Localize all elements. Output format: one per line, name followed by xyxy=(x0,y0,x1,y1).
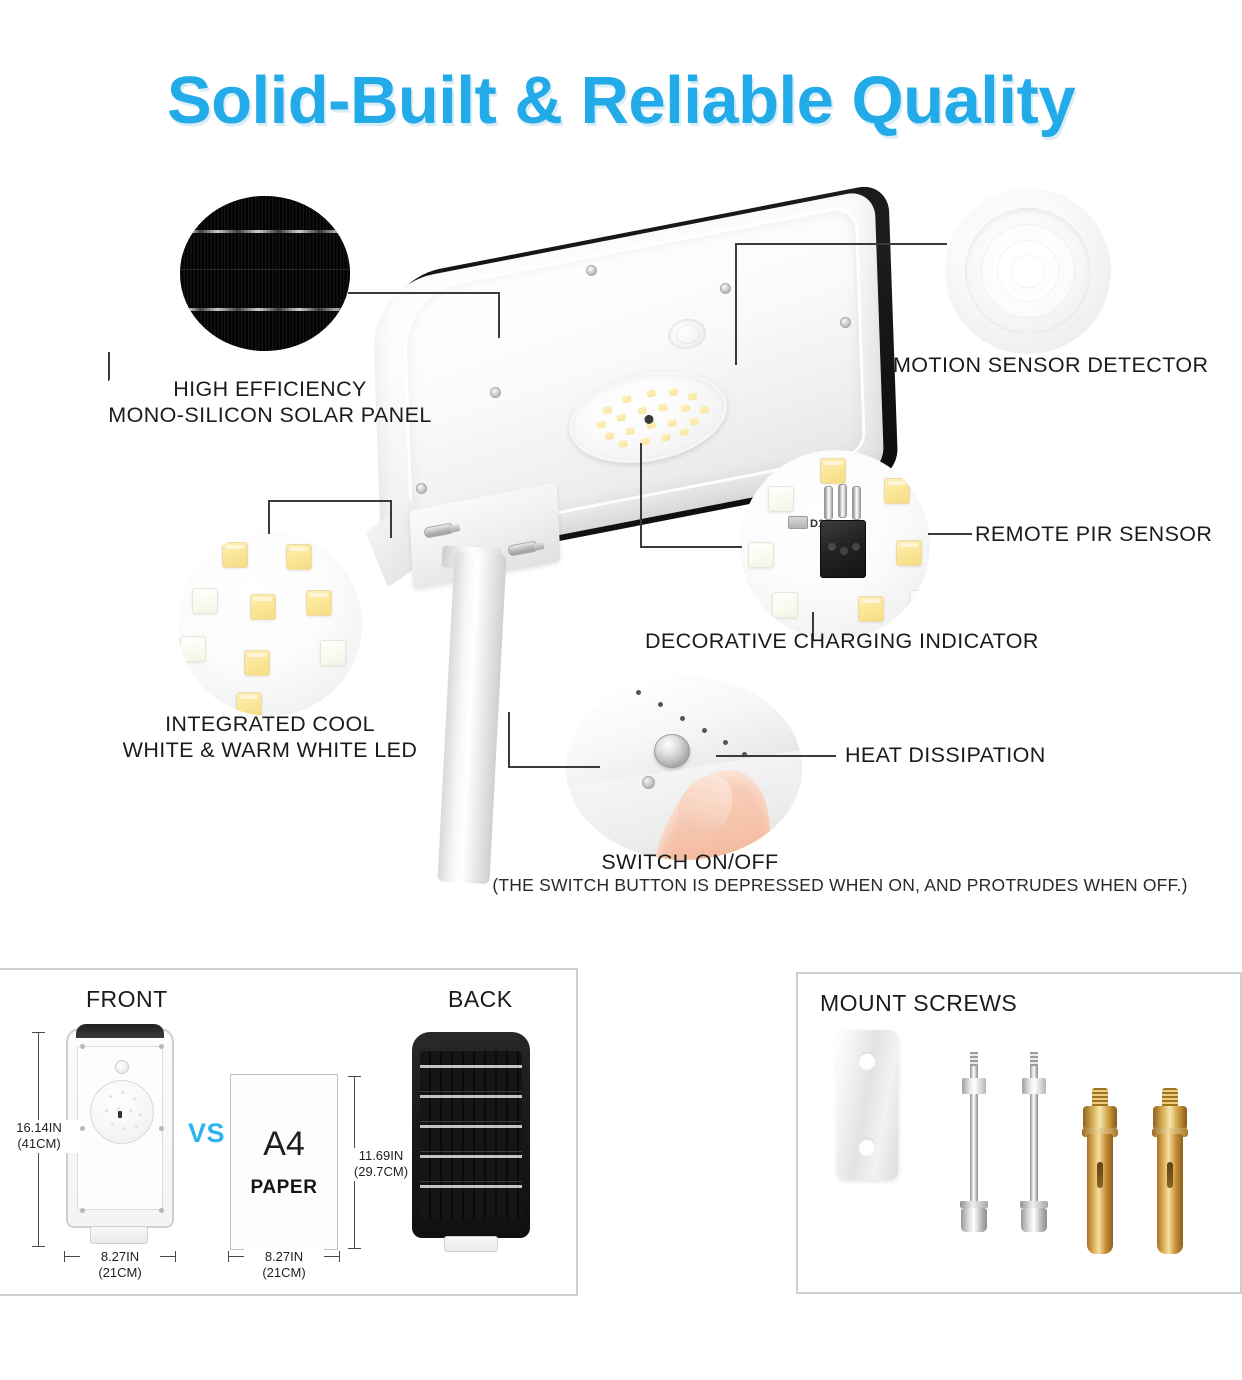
product-back-view xyxy=(412,1032,530,1238)
callout-label-heat-dissipation: HEAT DISSIPATION xyxy=(845,742,1046,768)
a4-paper-reference: A4 PAPER xyxy=(230,1074,338,1250)
callout-note-switch: (THE SWITCH BUTTON IS DEPRESSED WHEN ON,… xyxy=(440,875,1240,896)
vent-holes-icon xyxy=(658,702,663,707)
screw-icon xyxy=(642,776,655,789)
housing-screw-icon xyxy=(490,387,501,398)
front-led-lens xyxy=(90,1080,154,1144)
solar-panel-swatch-icon xyxy=(180,196,350,351)
leader-line xyxy=(735,243,947,245)
pir-board-icon: D1 xyxy=(740,450,930,640)
housing-screw-icon xyxy=(586,265,597,276)
bolt-part xyxy=(1020,1052,1048,1232)
mount-screws-title: MOUNT SCREWS xyxy=(820,990,1017,1017)
leader-line xyxy=(268,500,392,502)
power-button-icon xyxy=(654,734,690,768)
dimension-product-height: 16.14IN (41CM) xyxy=(0,1120,80,1153)
a4-title: A4 xyxy=(231,1125,337,1164)
front-motion-sensor-icon xyxy=(115,1060,129,1074)
leader-line xyxy=(640,443,642,547)
pir-dome-icon xyxy=(945,188,1111,354)
push-button-icon xyxy=(566,676,802,860)
callout-label-line2: MONO-SILICON SOLAR PANEL xyxy=(60,403,480,429)
product-back-mount-foot xyxy=(444,1236,498,1252)
leader-line xyxy=(735,243,737,365)
pir-board-component-label: D1 xyxy=(810,518,824,530)
infographic-page: Solid-Built & Reliable Quality xyxy=(0,0,1242,1380)
leader-line xyxy=(498,292,500,338)
leader-line xyxy=(348,292,500,294)
expansion-anchor-part xyxy=(1150,1084,1190,1254)
back-view-label: BACK xyxy=(448,986,513,1013)
dimension-value-cm: (29.7CM) xyxy=(354,1164,408,1179)
vent-holes-icon xyxy=(680,716,685,721)
a4-subtitle: PAPER xyxy=(231,1177,337,1199)
front-view-label: FRONT xyxy=(86,986,168,1013)
vent-holes-icon xyxy=(723,740,728,745)
dimension-value-cm: (41CM) xyxy=(17,1136,60,1151)
dimension-value-in: 8.27IN xyxy=(265,1249,303,1264)
product-front-view xyxy=(66,1028,174,1228)
dimension-value-cm: (21CM) xyxy=(98,1265,141,1280)
leader-line xyxy=(268,500,270,534)
callout-label-line1: HIGH EFFICIENCY xyxy=(60,377,480,403)
size-comparison-panel: FRONT BACK xyxy=(0,968,578,1296)
housing-screw-icon xyxy=(720,283,731,294)
callout-label-solar-panel: HIGH EFFICIENCY MONO-SILICON SOLAR PANEL xyxy=(60,377,480,429)
callout-label-motion-sensor: MOTION SENSOR DETECTOR xyxy=(893,352,1208,378)
vent-holes-icon xyxy=(702,728,707,733)
product-front-mount-foot xyxy=(90,1226,148,1244)
page-title: Solid-Built & Reliable Quality xyxy=(0,62,1242,139)
callout-label-led: INTEGRATED COOL WHITE & WARM WHITE LED xyxy=(60,712,480,764)
led-board-icon xyxy=(178,532,362,716)
leader-line xyxy=(390,500,392,538)
housing-screw-icon xyxy=(840,317,851,328)
dimension-value-in: 8.27IN xyxy=(101,1249,139,1264)
callout-label-switch: SWITCH ON/OFF xyxy=(500,849,880,875)
dimension-product-width: 8.27IN (21CM) xyxy=(80,1249,160,1282)
leader-line xyxy=(640,546,742,548)
leader-line xyxy=(716,755,836,757)
callout-label-line1: INTEGRATED COOL xyxy=(60,712,480,738)
leader-line xyxy=(928,533,972,535)
callout-label-remote-pir: REMOTE PIR SENSOR xyxy=(975,521,1212,547)
dimension-paper-width: 8.27IN (21CM) xyxy=(244,1249,324,1282)
leader-line xyxy=(108,352,110,380)
leader-line xyxy=(508,712,510,768)
callout-label-line2: WHITE & WARM WHITE LED xyxy=(60,738,480,764)
bolt-part xyxy=(960,1052,988,1232)
dimension-value-in: 11.69IN xyxy=(359,1148,404,1163)
expansion-anchor-part xyxy=(1080,1084,1120,1254)
vs-label: VS xyxy=(188,1118,225,1149)
callout-label-charging-indicator: DECORATIVE CHARGING INDICATOR xyxy=(645,628,1039,654)
housing-screw-icon xyxy=(416,483,427,494)
mounting-bracket-part xyxy=(836,1030,898,1180)
dimension-value-cm: (21CM) xyxy=(262,1265,305,1280)
dimension-value-in: 16.14IN xyxy=(16,1120,62,1135)
vent-holes-icon xyxy=(636,690,641,695)
leader-line xyxy=(508,766,600,768)
mount-screws-panel: MOUNT SCREWS xyxy=(796,972,1242,1294)
